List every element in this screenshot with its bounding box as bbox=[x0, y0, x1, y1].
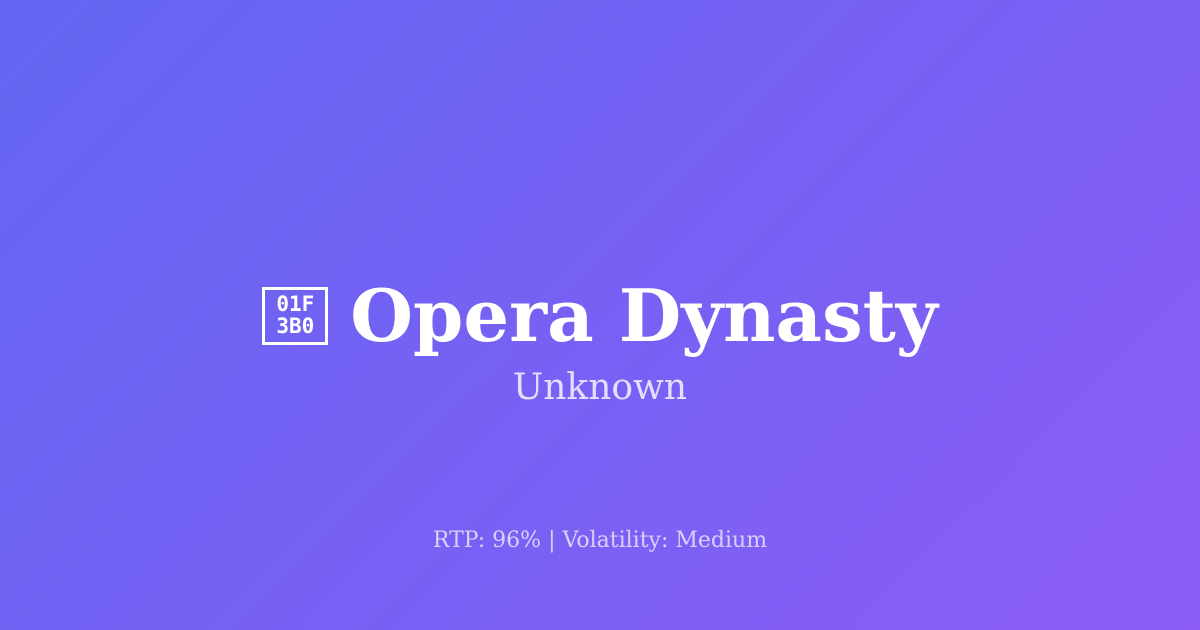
game-preview-card: 01F 3B0 Opera Dynasty Unknown RTP: 96% |… bbox=[0, 0, 1200, 630]
game-provider-subtitle: Unknown bbox=[0, 366, 1200, 409]
game-stats-line: RTP: 96% | Volatility: Medium bbox=[0, 528, 1200, 554]
glyph-codepoint-top: 01F bbox=[276, 294, 314, 316]
page-title: Opera Dynasty bbox=[350, 280, 937, 352]
slot-machine-icon: 01F 3B0 bbox=[262, 287, 328, 345]
glyph-codepoint-bottom: 3B0 bbox=[276, 316, 314, 338]
